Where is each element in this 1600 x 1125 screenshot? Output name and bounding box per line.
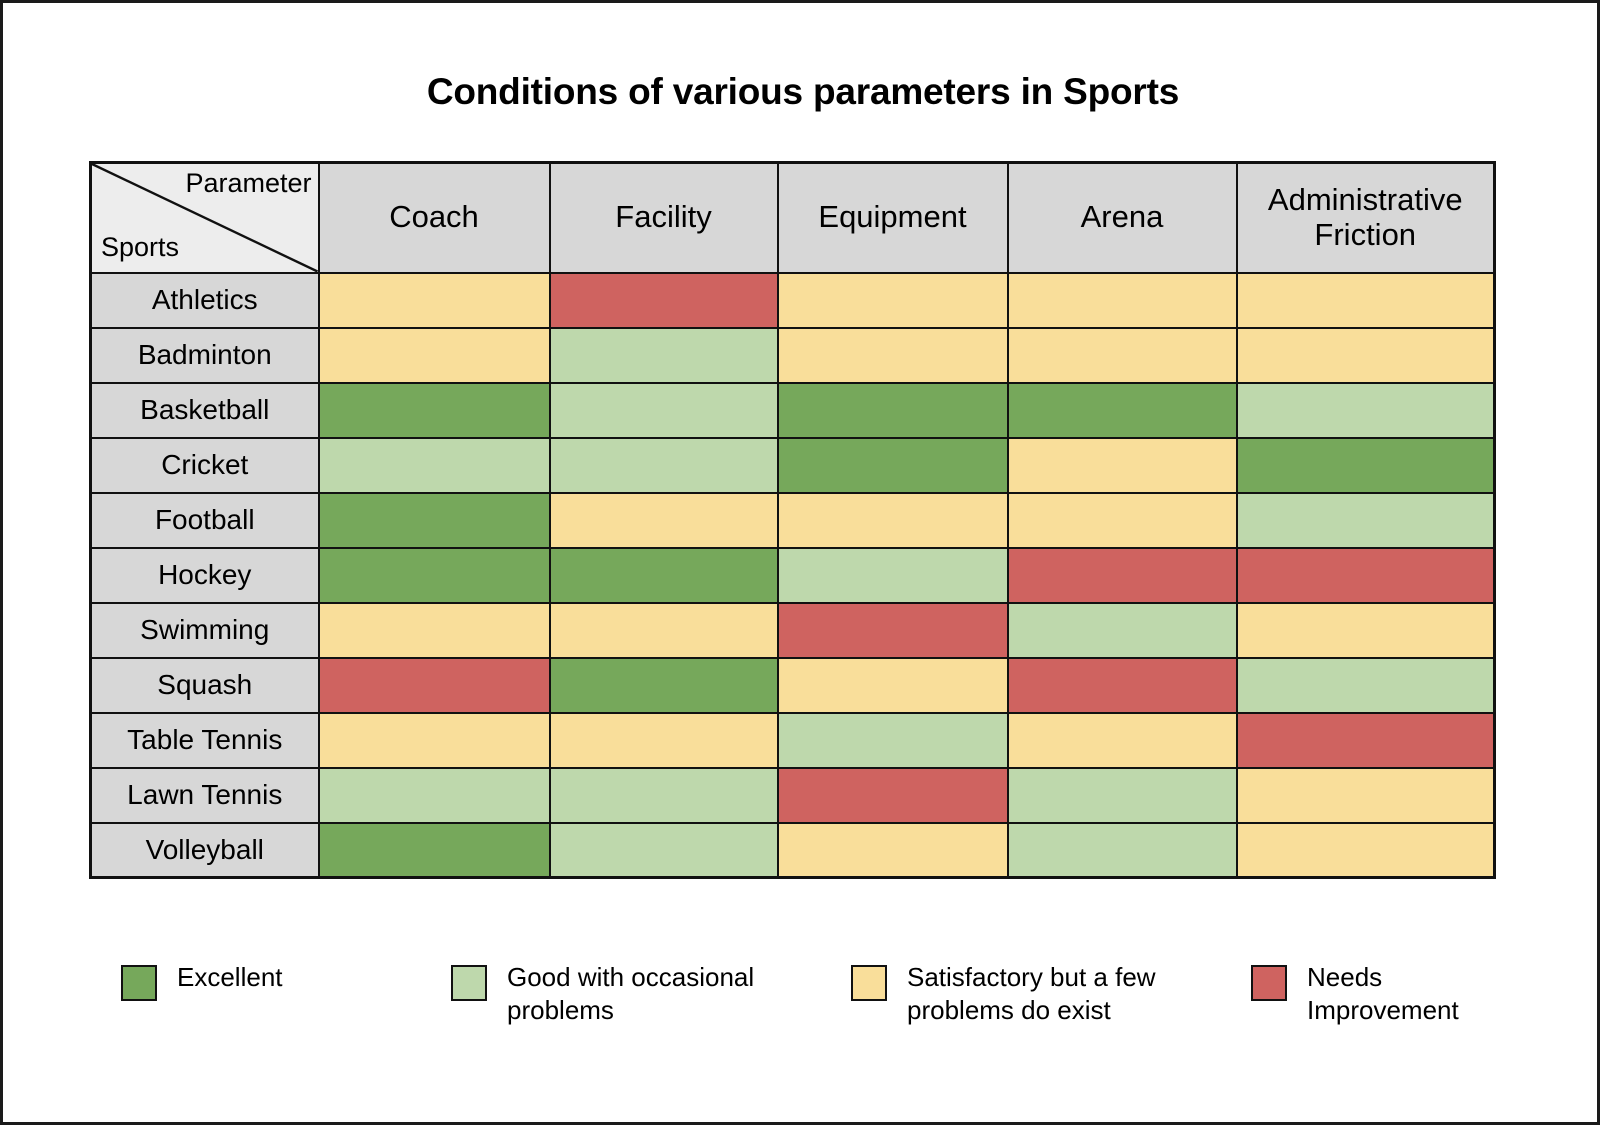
table-row: Hockey <box>91 548 1495 603</box>
row-axis-label: Sports <box>101 233 179 261</box>
legend-item-good: Good with occasional problems <box>451 961 851 1028</box>
matrix-header: Parameter Sports Coach Facility Equipmen… <box>91 163 1495 273</box>
row-header-swimming: Swimming <box>91 603 319 658</box>
cell-table-tennis-arena <box>1008 713 1237 768</box>
column-header-equipment: Equipment <box>778 163 1008 273</box>
column-header-facility: Facility <box>550 163 778 273</box>
legend-swatch-good <box>451 965 487 1001</box>
cell-swimming-facility <box>550 603 778 658</box>
cell-swimming-arena <box>1008 603 1237 658</box>
legend-item-excellent: Excellent <box>121 961 451 1001</box>
legend-item-satisfactory: Satisfactory but a few problems do exist <box>851 961 1251 1028</box>
table-row: Table Tennis <box>91 713 1495 768</box>
cell-football-administrative-friction <box>1237 493 1495 548</box>
cell-table-tennis-equipment <box>778 713 1008 768</box>
table-row: Squash <box>91 658 1495 713</box>
cell-hockey-arena <box>1008 548 1237 603</box>
cell-swimming-coach <box>319 603 550 658</box>
cell-basketball-facility <box>550 383 778 438</box>
cell-cricket-administrative-friction <box>1237 438 1495 493</box>
column-axis-label: Parameter <box>185 169 311 197</box>
table-row: Volleyball <box>91 823 1495 878</box>
legend-label-excellent: Excellent <box>177 961 283 994</box>
cell-table-tennis-facility <box>550 713 778 768</box>
legend: Excellent Good with occasional problems … <box>121 961 1521 1028</box>
cell-hockey-administrative-friction <box>1237 548 1495 603</box>
cell-basketball-coach <box>319 383 550 438</box>
cell-hockey-facility <box>550 548 778 603</box>
column-header-coach: Coach <box>319 163 550 273</box>
table-row: Basketball <box>91 383 1495 438</box>
cell-cricket-coach <box>319 438 550 493</box>
cell-volleyball-facility <box>550 823 778 878</box>
cell-squash-facility <box>550 658 778 713</box>
cell-badminton-arena <box>1008 328 1237 383</box>
cell-athletics-coach <box>319 273 550 328</box>
cell-football-arena <box>1008 493 1237 548</box>
row-header-cricket: Cricket <box>91 438 319 493</box>
cell-squash-coach <box>319 658 550 713</box>
matrix-table-container: Parameter Sports Coach Facility Equipmen… <box>89 161 1493 879</box>
cell-table-tennis-administrative-friction <box>1237 713 1495 768</box>
cell-squash-equipment <box>778 658 1008 713</box>
row-header-hockey: Hockey <box>91 548 319 603</box>
cell-lawn-tennis-equipment <box>778 768 1008 823</box>
matrix-chart-page: Conditions of various parameters in Spor… <box>0 0 1600 1125</box>
table-row: Athletics <box>91 273 1495 328</box>
cell-basketball-arena <box>1008 383 1237 438</box>
legend-label-satisfactory: Satisfactory but a few problems do exist <box>907 961 1197 1028</box>
legend-swatch-needs-improvement <box>1251 965 1287 1001</box>
cell-lawn-tennis-facility <box>550 768 778 823</box>
cell-swimming-administrative-friction <box>1237 603 1495 658</box>
table-row: Swimming <box>91 603 1495 658</box>
column-header-arena: Arena <box>1008 163 1237 273</box>
cell-athletics-arena <box>1008 273 1237 328</box>
table-row: Badminton <box>91 328 1495 383</box>
cell-squash-arena <box>1008 658 1237 713</box>
legend-swatch-satisfactory <box>851 965 887 1001</box>
cell-lawn-tennis-coach <box>319 768 550 823</box>
table-row: Cricket <box>91 438 1495 493</box>
table-row: Football <box>91 493 1495 548</box>
row-header-badminton: Badminton <box>91 328 319 383</box>
legend-label-needs-improvement: Needs Improvement <box>1307 961 1521 1028</box>
cell-lawn-tennis-administrative-friction <box>1237 768 1495 823</box>
row-header-athletics: Athletics <box>91 273 319 328</box>
cell-badminton-equipment <box>778 328 1008 383</box>
cell-athletics-facility <box>550 273 778 328</box>
column-header-administrative-friction: Administrative Friction <box>1237 163 1495 273</box>
matrix-body: AthleticsBadmintonBasketballCricketFootb… <box>91 273 1495 878</box>
cell-football-coach <box>319 493 550 548</box>
cell-cricket-arena <box>1008 438 1237 493</box>
cell-athletics-administrative-friction <box>1237 273 1495 328</box>
cell-badminton-facility <box>550 328 778 383</box>
cell-volleyball-equipment <box>778 823 1008 878</box>
cell-volleyball-arena <box>1008 823 1237 878</box>
cell-table-tennis-coach <box>319 713 550 768</box>
cell-badminton-administrative-friction <box>1237 328 1495 383</box>
row-header-lawn-tennis: Lawn Tennis <box>91 768 319 823</box>
row-header-basketball: Basketball <box>91 383 319 438</box>
table-row: Lawn Tennis <box>91 768 1495 823</box>
cell-hockey-coach <box>319 548 550 603</box>
axis-corner-cell: Parameter Sports <box>91 163 319 273</box>
conditions-matrix-table: Parameter Sports Coach Facility Equipmen… <box>89 161 1496 879</box>
cell-swimming-equipment <box>778 603 1008 658</box>
cell-basketball-equipment <box>778 383 1008 438</box>
row-header-football: Football <box>91 493 319 548</box>
cell-cricket-facility <box>550 438 778 493</box>
cell-football-facility <box>550 493 778 548</box>
cell-volleyball-coach <box>319 823 550 878</box>
cell-athletics-equipment <box>778 273 1008 328</box>
row-header-volleyball: Volleyball <box>91 823 319 878</box>
legend-item-needs-improvement: Needs Improvement <box>1251 961 1521 1028</box>
cell-cricket-equipment <box>778 438 1008 493</box>
cell-badminton-coach <box>319 328 550 383</box>
legend-label-good: Good with occasional problems <box>507 961 797 1028</box>
matrix-header-row: Parameter Sports Coach Facility Equipmen… <box>91 163 1495 273</box>
cell-basketball-administrative-friction <box>1237 383 1495 438</box>
cell-football-equipment <box>778 493 1008 548</box>
cell-squash-administrative-friction <box>1237 658 1495 713</box>
row-header-squash: Squash <box>91 658 319 713</box>
cell-hockey-equipment <box>778 548 1008 603</box>
cell-volleyball-administrative-friction <box>1237 823 1495 878</box>
legend-swatch-excellent <box>121 965 157 1001</box>
page-title: Conditions of various parameters in Spor… <box>3 71 1600 113</box>
cell-lawn-tennis-arena <box>1008 768 1237 823</box>
row-header-table-tennis: Table Tennis <box>91 713 319 768</box>
